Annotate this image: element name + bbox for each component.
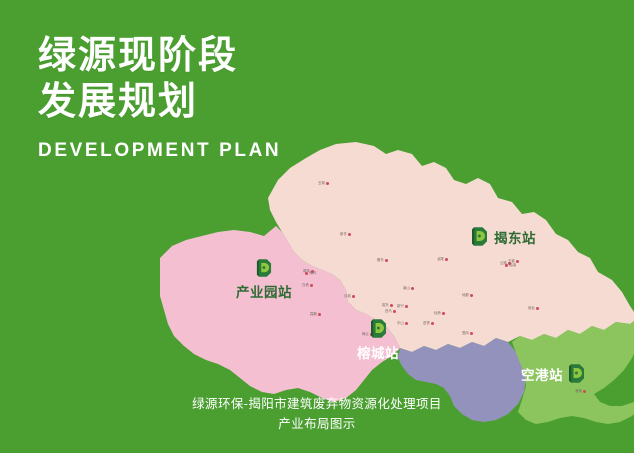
town-dot-icon bbox=[470, 294, 473, 297]
station-label-rongcheng: 榕城站 bbox=[357, 347, 399, 361]
lvyuan-logo-icon bbox=[471, 226, 488, 252]
town-label: 月城 bbox=[344, 295, 351, 298]
station-label-chanyeyuan: 产业园站 bbox=[236, 286, 292, 300]
town-dot-icon bbox=[390, 304, 393, 307]
town-label: 磐东 bbox=[377, 259, 384, 262]
town-dot-icon bbox=[348, 233, 351, 236]
town-marker: 仙桥 bbox=[434, 312, 445, 315]
town-dot-icon bbox=[385, 259, 388, 262]
town-dot-icon bbox=[352, 295, 355, 298]
station-marker-jiedong[interactable]: 揭东站 bbox=[471, 226, 536, 252]
town-label: 玉窖 bbox=[508, 260, 515, 263]
caption-line-2: 产业布局图示 bbox=[0, 414, 634, 435]
town-dot-icon bbox=[326, 182, 329, 185]
town-dot-icon bbox=[470, 332, 473, 335]
lvyuan-logo-icon bbox=[568, 363, 585, 389]
town-label: 榕东 bbox=[382, 304, 389, 307]
town-marker: 曲溪 bbox=[505, 264, 516, 267]
town-marker: 龙尾 bbox=[437, 258, 448, 261]
town-marker: 登岗 bbox=[462, 332, 473, 335]
town-dot-icon bbox=[405, 322, 408, 325]
lvyuan-logo-icon bbox=[370, 318, 387, 344]
town-label: 龙尾 bbox=[437, 258, 444, 261]
town-marker: 月城 bbox=[344, 295, 355, 298]
station-label-jiedong: 揭东站 bbox=[494, 232, 536, 246]
town-label: 登岗 bbox=[462, 332, 469, 335]
town-dot-icon bbox=[445, 258, 448, 261]
town-dot-icon bbox=[393, 310, 396, 313]
town-label: 曲溪 bbox=[510, 264, 517, 267]
town-label: 玉湖 bbox=[318, 182, 325, 185]
town-label: 白塔 bbox=[302, 284, 309, 287]
town-label: 进贤 bbox=[423, 322, 430, 325]
town-marker: 霖磐 bbox=[310, 313, 321, 316]
town-marker: 磐东 bbox=[377, 259, 388, 262]
town-dot-icon bbox=[411, 287, 414, 290]
town-marker: 白塔 bbox=[302, 284, 313, 287]
town-dot-icon bbox=[318, 313, 321, 316]
town-dot-icon bbox=[431, 322, 434, 325]
town-marker: 榕东 bbox=[382, 304, 393, 307]
station-marker-rongcheng[interactable]: 榕城站 bbox=[357, 318, 399, 361]
town-label: 梅坪 bbox=[310, 272, 317, 275]
town-label: 炮台 bbox=[528, 307, 535, 310]
town-marker: 西马 bbox=[385, 310, 396, 313]
town-dot-icon bbox=[583, 390, 586, 393]
heading-block: 绿源现阶段 发展规划 DEVELOPMENT PLAN bbox=[38, 33, 281, 162]
lvyuan-logo-icon bbox=[256, 258, 272, 283]
town-label: 仙桥 bbox=[434, 312, 441, 315]
town-marker: 炮台 bbox=[528, 307, 539, 310]
station-label-konggang: 空港站 bbox=[521, 369, 563, 383]
town-label: 南山 bbox=[403, 287, 410, 290]
town-label: 地都 bbox=[462, 294, 469, 297]
town-dot-icon bbox=[442, 312, 445, 315]
caption-block: 绿源环保-揭阳市建筑废弃物资源化处理项目 产业布局图示 bbox=[0, 394, 634, 435]
town-marker: 新亨 bbox=[340, 233, 351, 236]
station-marker-konggang[interactable]: 空港站 bbox=[521, 363, 585, 389]
poster-canvas: 绿源现阶段 发展规划 DEVELOPMENT PLAN 玉湖新亨磐东龙尾云路曲溪… bbox=[0, 0, 634, 453]
town-label: 西马 bbox=[385, 310, 392, 313]
town-dot-icon bbox=[536, 307, 539, 310]
town-label: 新兴 bbox=[397, 305, 404, 308]
town-dot-icon bbox=[516, 260, 519, 263]
town-marker: 玉窖 bbox=[508, 260, 519, 263]
town-marker: 玉湖 bbox=[318, 182, 329, 185]
station-marker-chanyeyuan[interactable]: 产业园站 bbox=[236, 258, 292, 300]
town-dot-icon bbox=[310, 284, 313, 287]
town-marker: 新兴 bbox=[397, 305, 408, 308]
town-label: 霖磐 bbox=[310, 313, 317, 316]
town-marker: 地都 bbox=[462, 294, 473, 297]
caption-line-1: 绿源环保-揭阳市建筑废弃物资源化处理项目 bbox=[0, 394, 634, 415]
title-line-2: 发展规划 bbox=[38, 79, 281, 125]
town-marker: 梅坪 bbox=[305, 272, 316, 275]
subtitle: DEVELOPMENT PLAN bbox=[38, 140, 281, 162]
town-marker: 进贤 bbox=[423, 322, 434, 325]
town-dot-icon bbox=[505, 264, 508, 267]
town-label: 新亨 bbox=[340, 233, 347, 236]
town-dot-icon bbox=[405, 305, 408, 308]
title-line-1: 绿源现阶段 bbox=[38, 33, 281, 79]
town-dot-icon bbox=[305, 272, 308, 275]
town-marker: 南山 bbox=[403, 287, 414, 290]
